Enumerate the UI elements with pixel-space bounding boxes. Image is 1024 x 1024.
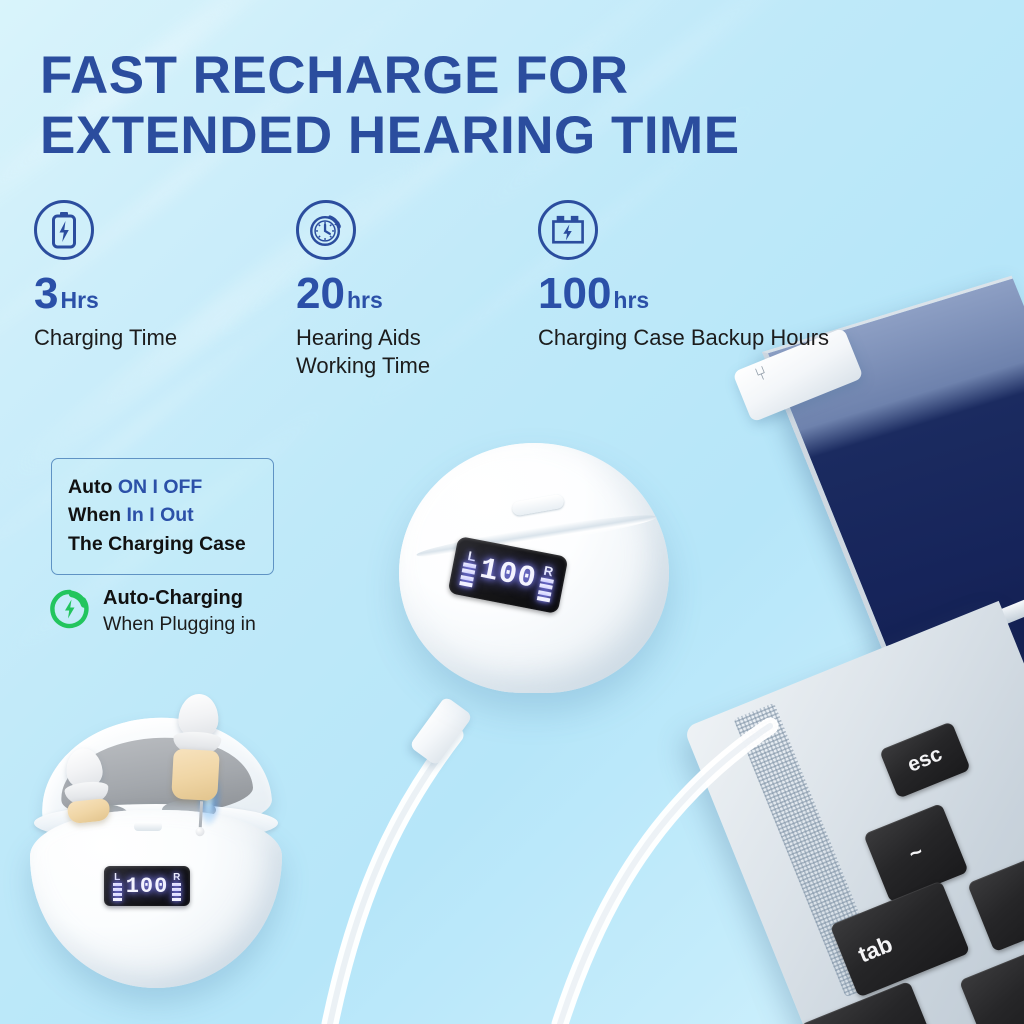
led-percent-main: 100 [477, 553, 539, 597]
key-tilde: ~ [863, 803, 969, 903]
led-right-label: R [173, 872, 180, 883]
led-right-label: R [542, 563, 554, 580]
laptop-speaker-grille [733, 703, 886, 998]
battery-bolt-icon [34, 200, 94, 260]
auto-box-line-2: When In I Out [68, 501, 257, 529]
led-left-bars [460, 562, 477, 588]
cable-plug [409, 696, 473, 766]
stat-unit: hrs [347, 289, 383, 312]
auto-box-line-1: Auto ON I OFF [68, 473, 257, 501]
stat-unit: hrs [613, 289, 649, 312]
stat-value: 20 [296, 272, 345, 316]
car-battery-bolt-icon [538, 200, 598, 260]
auto-line1-plain: Auto [68, 476, 118, 498]
laptop-base [683, 601, 1024, 1024]
auto-charging-title: Auto-Charging [103, 586, 256, 610]
key-esc: esc [879, 721, 971, 798]
case-slot-right [162, 800, 216, 820]
stat-description: Hearing Aids Working Time [296, 324, 538, 380]
charging-case-open [22, 700, 290, 990]
stats-row: 3 Hrs Charging Time 20 hrs [34, 200, 934, 380]
hearing-aid-left [64, 746, 112, 824]
led-right-bars [172, 883, 181, 901]
stat-value-group: 100 hrs [538, 272, 829, 316]
stat-working-time: 20 hrs Hearing Aids Working Time [296, 200, 538, 380]
stat-value-group: 20 hrs [296, 272, 538, 316]
case-hinge [134, 822, 162, 831]
auto-line2-plain: When [68, 504, 127, 526]
case-body [30, 810, 282, 988]
laptop-base-edge [755, 581, 1024, 723]
key-one: 1 [967, 854, 1024, 953]
auto-line1-highlight: ON I OFF [118, 476, 203, 498]
auto-charging-subtitle: When Plugging in [103, 612, 256, 637]
stat-value: 100 [538, 272, 611, 316]
auto-charging-feature: Auto-Charging When Plugging in [48, 586, 256, 637]
key-tab: tab [830, 880, 970, 997]
auto-box-line-3: The Charging Case [68, 530, 257, 558]
case-slot-left [74, 804, 128, 824]
key-blank [959, 945, 1024, 1024]
key-blank [800, 981, 939, 1024]
stat-value-group: 3 Hrs [34, 272, 296, 316]
led-battery-display-secondary: L 100 R [104, 866, 190, 906]
charging-glow-effect [196, 770, 222, 826]
case-lid-interior [58, 731, 255, 822]
case-rim [34, 804, 278, 842]
charging-case-closed [399, 443, 669, 693]
stat-description: Charging Time [34, 324, 296, 352]
stat-value: 3 [34, 272, 58, 316]
stat-description: Charging Case Backup Hours [538, 324, 829, 352]
green-charging-circle-icon [48, 587, 92, 636]
page-title: FAST RECHARGE FOR EXTENDED HEARING TIME [40, 46, 800, 166]
auto-on-off-callout: Auto ON I OFF When In I Out The Charging… [51, 458, 274, 575]
led-left-label: L [467, 548, 478, 564]
auto-charging-text: Auto-Charging When Plugging in [103, 586, 256, 637]
clock-refresh-icon [296, 200, 356, 260]
case-lid [36, 710, 274, 844]
led-left-bars [113, 883, 122, 901]
hearing-aid-right [172, 693, 223, 837]
led-left-label: L [114, 872, 120, 883]
laptop: esc ~ 1 tab ⑂ [660, 300, 1024, 1024]
led-battery-display-main: L 100 R [447, 536, 568, 614]
stat-backup-hours: 100 hrs Charging Case Backup Hours [538, 200, 829, 380]
stat-charging-time: 3 Hrs Charging Time [34, 200, 296, 380]
led-right-bars [536, 577, 553, 603]
led-percent-secondary: 100 [126, 874, 169, 899]
stat-unit: Hrs [60, 289, 98, 312]
auto-line2-highlight: In I Out [127, 504, 194, 526]
